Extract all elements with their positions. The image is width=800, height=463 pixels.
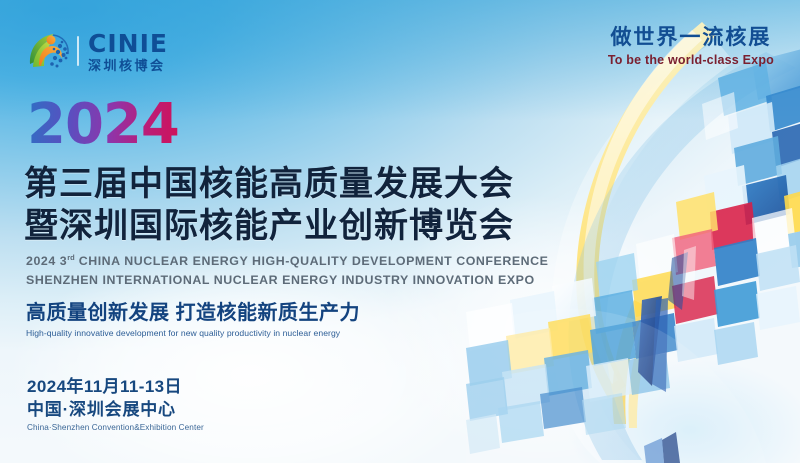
- page-title: 第三届中国核能高质量发展大会 暨深圳国际核能产业创新博览会: [24, 163, 514, 247]
- headline-line-1: 第三届中国核能高质量发展大会: [24, 163, 514, 205]
- logo-brand-cn-text: 深圳核博会: [88, 59, 168, 72]
- cinie-logo: CINIE 深圳核博会: [24, 28, 168, 74]
- tagline-block: 做世界一流核展 To be the world-class Expo: [608, 26, 774, 67]
- subtitle-line-1-pre: 2024 3: [26, 254, 67, 268]
- subtitle-block: 2024 3rd CHINA NUCLEAR ENERGY HIGH-QUALI…: [26, 252, 548, 291]
- cinie-emblem-icon: [24, 29, 69, 74]
- venue-block: 2024年11月11-13日 中国·深圳会展中心 China·Shenzhen …: [27, 376, 204, 432]
- slogan-en: High-quality innovative development for …: [26, 328, 360, 338]
- tagline-cn: 做世界一流核展: [608, 26, 774, 50]
- subtitle-line-2: SHENZHEN INTERNATIONAL NUCLEAR ENERGY IN…: [26, 271, 548, 290]
- headline-line-2: 暨深圳国际核能产业创新博览会: [24, 205, 514, 247]
- venue-name-en: China·Shenzhen Convention&Exhibition Cen…: [27, 423, 204, 432]
- slogan-cn: 高质量创新发展 打造核能新质生产力: [26, 301, 360, 325]
- subtitle-ordinal-sup: rd: [67, 253, 75, 262]
- venue-name-cn: 中国·深圳会展中心: [27, 399, 204, 421]
- subtitle-line-1: 2024 3rd CHINA NUCLEAR ENERGY HIGH-QUALI…: [26, 252, 548, 271]
- ribbon-swirl-graphic: [466, 0, 800, 463]
- tagline-en: To be the world-class Expo: [608, 53, 774, 67]
- year-text: 2024: [27, 97, 179, 153]
- logo-divider: [77, 36, 79, 66]
- expo-poster: CINIE 深圳核博会 做世界一流核展 To be the world-clas…: [0, 0, 800, 463]
- event-date: 2024年11月11-13日: [27, 376, 204, 398]
- slogan-block: 高质量创新发展 打造核能新质生产力 High-quality innovativ…: [26, 301, 360, 338]
- subtitle-line-1-post: CHINA NUCLEAR ENERGY HIGH-QUALITY DEVELO…: [75, 254, 549, 268]
- logo-wordmark: CINIE 深圳核博会: [88, 31, 168, 72]
- logo-brand-text: CINIE: [88, 31, 168, 56]
